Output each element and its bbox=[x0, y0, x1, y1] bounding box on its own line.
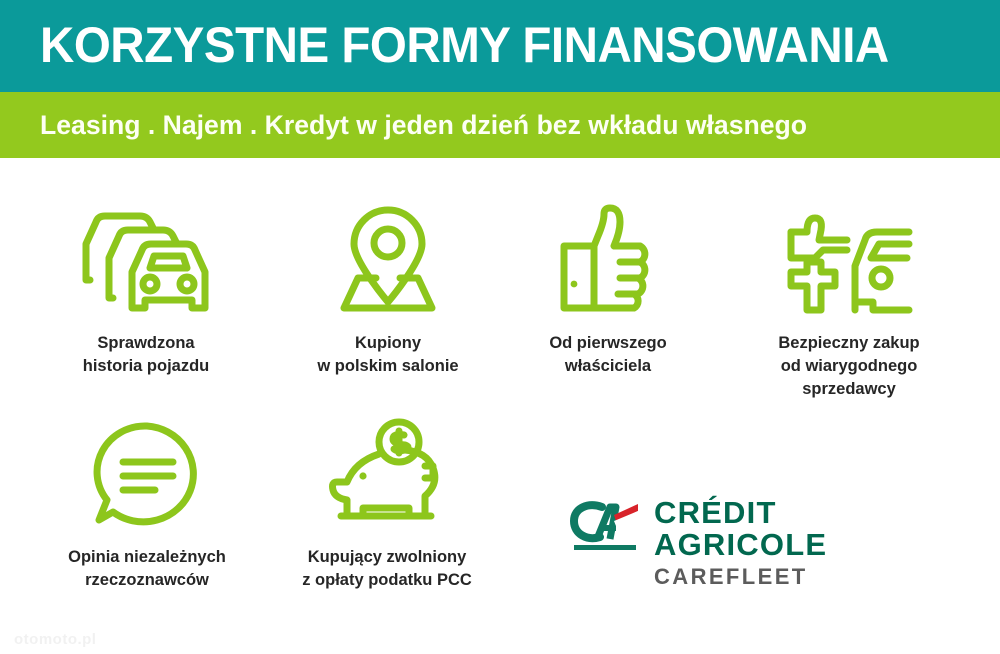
feature-label: Sprawdzona historia pojazdu bbox=[48, 332, 244, 378]
feature-label: Od pierwszego właściciela bbox=[518, 332, 698, 378]
credit-agricole-ca-monogram-icon bbox=[570, 499, 642, 553]
feature-item-pcc-tax-exempt: Kupujący zwolniony z opłaty podatku PCC bbox=[274, 420, 500, 592]
logo-brand-name: CRÉDIT AGRICOLE bbox=[654, 497, 950, 561]
feature-item-bought-in-poland: Kupiony w polskim salonie bbox=[290, 206, 486, 378]
feature-label: Opinia niezależnych rzeczoznawców bbox=[34, 546, 260, 592]
feature-label: Kupujący zwolniony z opłaty podatku PCC bbox=[274, 546, 500, 592]
hand-key-car-icon bbox=[742, 206, 956, 318]
feature-label: Bezpieczny zakup od wiarygodnego sprzeda… bbox=[742, 332, 956, 401]
credit-agricole-carefleet-logo: CRÉDIT AGRICOLE CAREFLEET bbox=[570, 497, 950, 557]
cars-stack-icon bbox=[48, 206, 244, 318]
promo-banner: KORZYSTNE FORMY FINANSOWANIA Leasing . N… bbox=[0, 0, 1000, 654]
piggy-bank-icon bbox=[274, 420, 500, 532]
feature-item-first-owner: Od pierwszego właściciela bbox=[518, 206, 698, 378]
watermark: otomoto.pl bbox=[14, 631, 96, 648]
speech-bubble-icon bbox=[34, 420, 260, 532]
subtitle-band: Leasing . Najem . Kredyt w jeden dzień b… bbox=[0, 92, 1000, 158]
feature-label: Kupiony w polskim salonie bbox=[290, 332, 486, 378]
feature-item-vehicle-history: Sprawdzona historia pojazdu bbox=[48, 206, 244, 378]
feature-item-trusted-seller: Bezpieczny zakup od wiarygodnego sprzeda… bbox=[742, 206, 956, 401]
map-pin-icon bbox=[290, 206, 486, 318]
title-band: KORZYSTNE FORMY FINANSOWANIA bbox=[0, 0, 1000, 92]
logo-wordmark: CRÉDIT AGRICOLE CAREFLEET bbox=[654, 497, 950, 588]
page-title: KORZYSTNE FORMY FINANSOWANIA bbox=[40, 14, 889, 76]
page-subtitle: Leasing . Najem . Kredyt w jeden dzień b… bbox=[40, 104, 807, 146]
thumbs-up-icon bbox=[518, 206, 698, 318]
logo-sub-brand-name: CAREFLEET bbox=[654, 565, 950, 588]
feature-item-expert-opinion: Opinia niezależnych rzeczoznawców bbox=[34, 420, 260, 592]
